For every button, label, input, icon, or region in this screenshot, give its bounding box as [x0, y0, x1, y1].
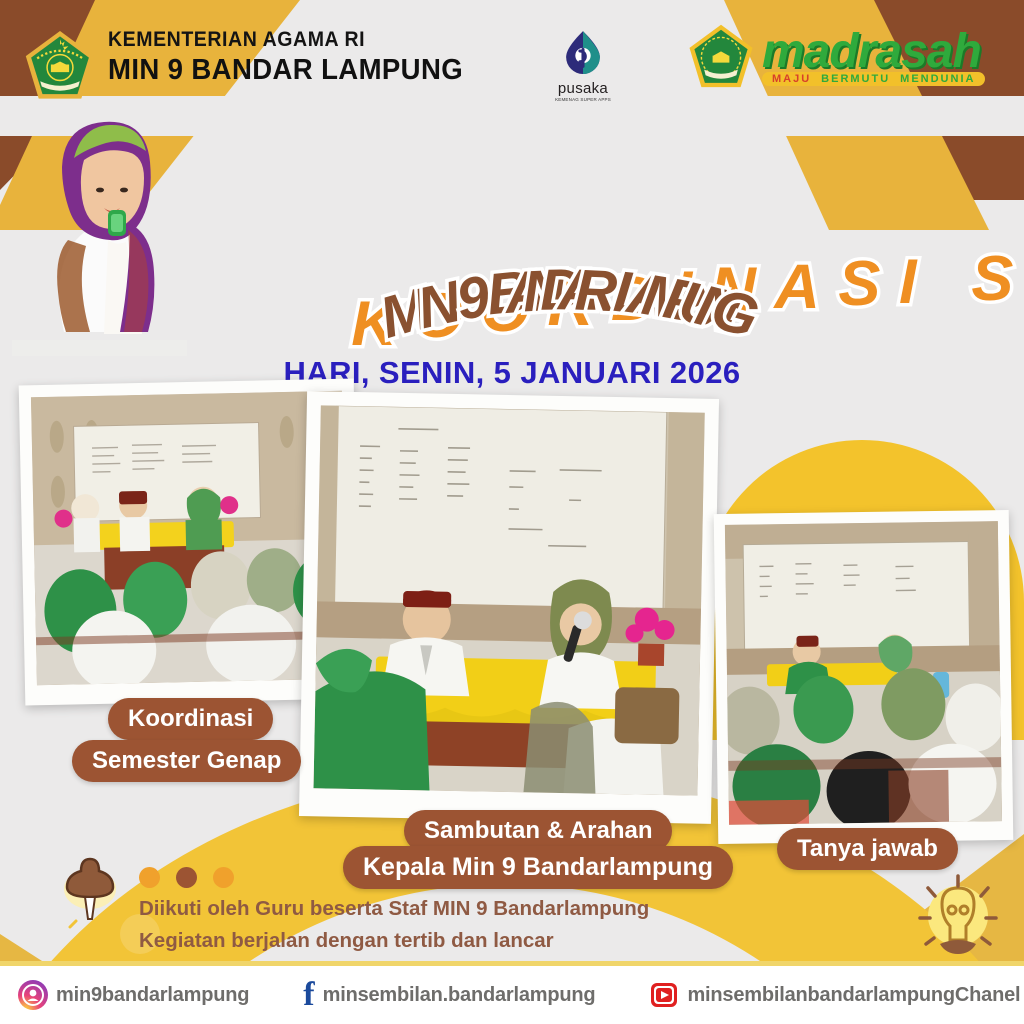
photo-tanya-jawab — [714, 510, 1014, 844]
header-titles: KEMENTERIAN AGAMA RI MIN 9 BANDAR LAMPUN… — [108, 28, 482, 87]
decorative-dots — [139, 867, 234, 888]
school-name: MIN 9 BANDAR LAMPUNG — [108, 54, 463, 87]
youtube-icon — [649, 980, 679, 1010]
madrasah-tagline: MAJU BERMUTU MENDUNIA — [762, 72, 985, 86]
caption-koordinasi-line1: Koordinasi — [108, 698, 273, 740]
pusaka-leaf-icon — [560, 28, 606, 74]
ministry-name: KEMENTERIAN AGAMA RI — [108, 28, 456, 51]
footer-youtube[interactable]: minsembilanbandarlampungChanel — [649, 980, 1020, 1010]
poster-canvas: KEMENTERIAN AGAMA RI MIN 9 BANDAR LAMPUN… — [0, 0, 1024, 1024]
pusaka-name: pusaka — [548, 80, 618, 97]
photo-sambutan — [299, 391, 719, 824]
instagram-icon — [18, 980, 48, 1010]
pusaka-subtitle: KEMENAG SUPER APPS — [548, 97, 618, 102]
instagram-handle: min9bandarlampung — [56, 984, 249, 1007]
photo-sambutan-image — [313, 405, 704, 795]
dot-3 — [213, 867, 234, 888]
tagline-maju: MAJU — [772, 73, 811, 85]
note-line-1: Diikuti oleh Guru beserta Staf MIN 9 Ban… — [139, 893, 649, 925]
hero-title: KOORDINASI SEMESTER GENAP MIN 9 BANDAR L… — [150, 178, 1000, 348]
photo-koordinasi-image — [31, 391, 348, 685]
photo-tanya-jawab-image — [725, 521, 1002, 825]
tagline-mendunia: MENDUNIA — [900, 73, 975, 85]
footer-instagram[interactable]: min9bandarlampung — [18, 980, 249, 1010]
caption-koordinasi-line2: Semester Genap — [72, 740, 301, 782]
title-line-1: KOORDINASI SEMESTER GENAP — [150, 178, 1000, 250]
madrasah-logo: madrasah MAJU BERMUTU MENDUNIA — [686, 22, 985, 92]
facebook-handle: minsembilan.bandarlampung — [323, 984, 596, 1007]
madrasah-wordmark: madrasah — [762, 28, 985, 76]
dot-2 — [176, 867, 197, 888]
youtube-handle: minsembilanbandarlampungChanel — [687, 984, 1020, 1007]
facebook-icon: f — [303, 981, 314, 1008]
caption-sambutan-line2: Kepala Min 9 Bandarlampung — [343, 846, 733, 889]
madrasah-pentagon-icon — [686, 22, 756, 92]
pusaka-logo: pusaka KEMENAG SUPER APPS — [548, 28, 618, 102]
pushpin-icon — [60, 855, 120, 935]
tagline-bermutu: BERMUTU — [821, 73, 890, 85]
caption-tanya-jawab: Tanya jawab — [777, 828, 958, 870]
footer-facebook[interactable]: f minsembilan.bandarlampung — [303, 981, 595, 1008]
note-line-2: Kegiatan berjalan dengan tertib dan lanc… — [139, 925, 649, 957]
social-footer: min9bandarlampung f minsembilan.bandarla… — [0, 961, 1024, 1024]
note-block: Diikuti oleh Guru beserta Staf MIN 9 Ban… — [139, 893, 649, 957]
dot-1 — [139, 867, 160, 888]
lightbulb-icon — [900, 868, 1010, 968]
kemenag-logo-icon — [22, 28, 98, 104]
